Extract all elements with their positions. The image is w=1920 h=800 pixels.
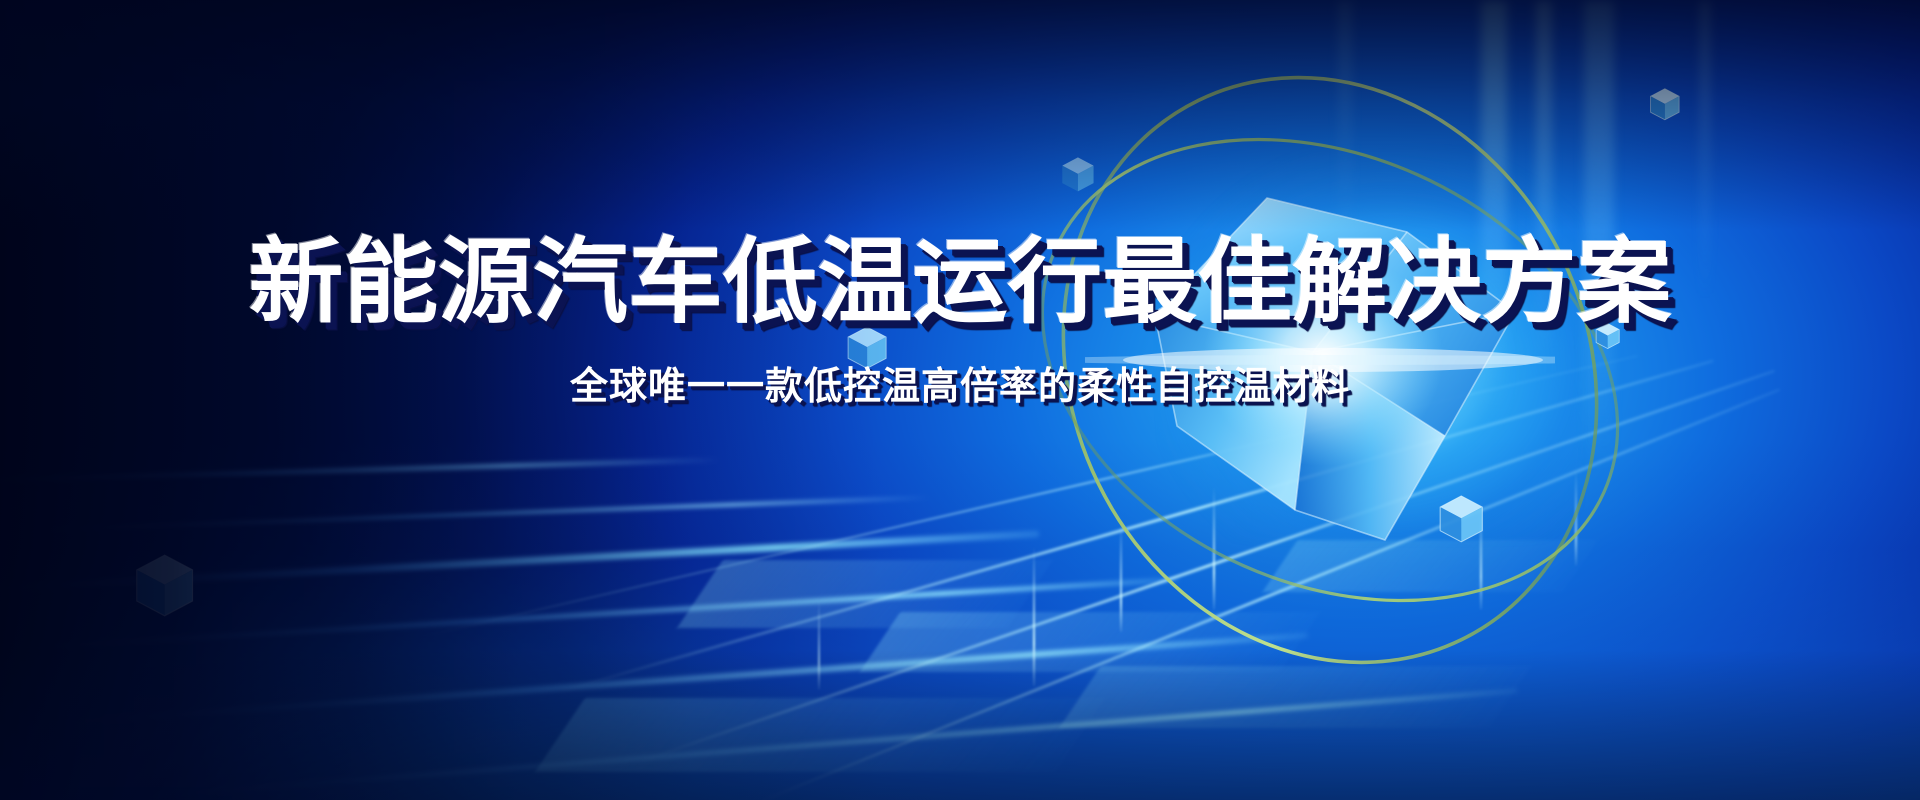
top-vignette (0, 0, 1920, 230)
hero-text-block: 新能源汽车低温运行最佳解决方案 全球唯一一款低控温高倍率的柔性自控温材料 (0, 236, 1920, 410)
hero-banner: 新能源汽车低温运行最佳解决方案 全球唯一一款低控温高倍率的柔性自控温材料 (0, 0, 1920, 800)
page-subtitle: 全球唯一一款低控温高倍率的柔性自控温材料 (0, 355, 1920, 410)
page-title: 新能源汽车低温运行最佳解决方案 (0, 236, 1920, 329)
bottom-vignette (0, 650, 1920, 800)
